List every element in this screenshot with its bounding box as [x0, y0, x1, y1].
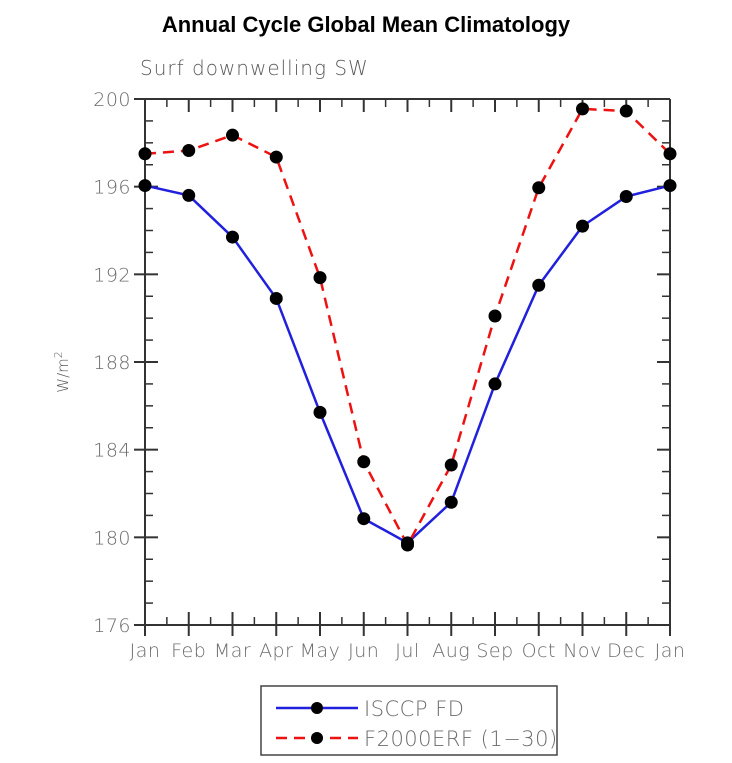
data-series-layer: [139, 102, 677, 551]
data-point-marker[interactable]: [445, 496, 458, 509]
x-axis-tick-label: May: [300, 640, 341, 662]
data-point-marker[interactable]: [357, 512, 370, 525]
x-axis-tick-label: Sep: [476, 640, 513, 662]
data-point-marker[interactable]: [620, 105, 633, 118]
data-point-marker[interactable]: [270, 292, 283, 305]
data-point-marker[interactable]: [532, 181, 545, 194]
legend-marker-icon: [311, 702, 323, 714]
chart-plot-area: 176180184188192196200 JanFebMarAprMayJun…: [0, 0, 732, 763]
data-point-marker[interactable]: [182, 144, 195, 157]
y-axis-tick-label: 196: [93, 177, 131, 199]
data-point-marker[interactable]: [489, 309, 502, 322]
y-axis-tick-label: 176: [93, 615, 131, 637]
x-axis-tick-label: Nov: [563, 640, 602, 662]
legend-label-f2000erf: F2000ERF (1−30): [364, 727, 558, 751]
y-axis-title-base: W/m: [54, 358, 72, 393]
data-point-marker[interactable]: [182, 189, 195, 202]
data-point-marker[interactable]: [139, 179, 152, 192]
chart-root: Annual Cycle Global Mean Climatology Sur…: [0, 0, 732, 763]
data-point-marker[interactable]: [226, 231, 239, 244]
data-point-marker[interactable]: [576, 220, 589, 233]
y-axis-title-superscript: 2: [52, 351, 65, 358]
data-point-marker[interactable]: [664, 147, 677, 160]
x-axis-tick-label: Aug: [432, 640, 470, 662]
data-point-marker[interactable]: [139, 147, 152, 160]
x-axis-tick-label: Dec: [607, 640, 645, 662]
data-point-marker[interactable]: [576, 102, 589, 115]
series-line-isccp-fd: [145, 186, 670, 543]
data-point-marker[interactable]: [226, 129, 239, 142]
data-point-marker[interactable]: [314, 406, 327, 419]
chart-legend[interactable]: ISCCP FD F2000ERF (1−30): [261, 686, 558, 755]
legend-marker-icon: [311, 732, 323, 744]
y-axis-tick-label: 188: [93, 352, 131, 374]
y-axis-tick-label: 184: [93, 440, 131, 462]
x-axis-tick-label: Jun: [348, 640, 379, 662]
x-axis-tick-label: Jan: [130, 640, 161, 662]
data-point-marker[interactable]: [357, 455, 370, 468]
data-point-marker[interactable]: [664, 179, 677, 192]
x-axis-tick-label: Jan: [655, 640, 686, 662]
x-axis-ticks: [145, 99, 670, 636]
x-axis-tick-label: Mar: [214, 640, 251, 662]
data-point-marker[interactable]: [445, 459, 458, 472]
legend-label-isccp-fd: ISCCP FD: [364, 697, 464, 721]
data-point-marker[interactable]: [401, 539, 414, 552]
svg-text:W/m2: W/m2: [52, 351, 72, 393]
x-axis-tick-label: Apr: [259, 640, 293, 662]
data-point-marker[interactable]: [620, 190, 633, 203]
x-axis-tick-labels: JanFebMarAprMayJunJulAugSepOctNovDecJan: [130, 640, 686, 662]
series-line-f2000erf: [145, 109, 670, 545]
y-axis-tick-labels: 176180184188192196200: [93, 89, 131, 637]
x-axis-tick-label: Jul: [395, 640, 419, 662]
data-point-marker[interactable]: [270, 151, 283, 164]
y-axis-tick-label: 180: [93, 527, 131, 549]
data-point-marker[interactable]: [314, 271, 327, 284]
y-axis-tick-label: 192: [93, 264, 131, 286]
data-point-marker[interactable]: [532, 279, 545, 292]
y-axis-title: W/m2: [52, 351, 72, 393]
y-axis-tick-label: 200: [93, 89, 131, 111]
x-axis-tick-label: Feb: [171, 640, 206, 662]
x-axis-tick-label: Oct: [522, 640, 556, 662]
data-point-marker[interactable]: [489, 377, 502, 390]
